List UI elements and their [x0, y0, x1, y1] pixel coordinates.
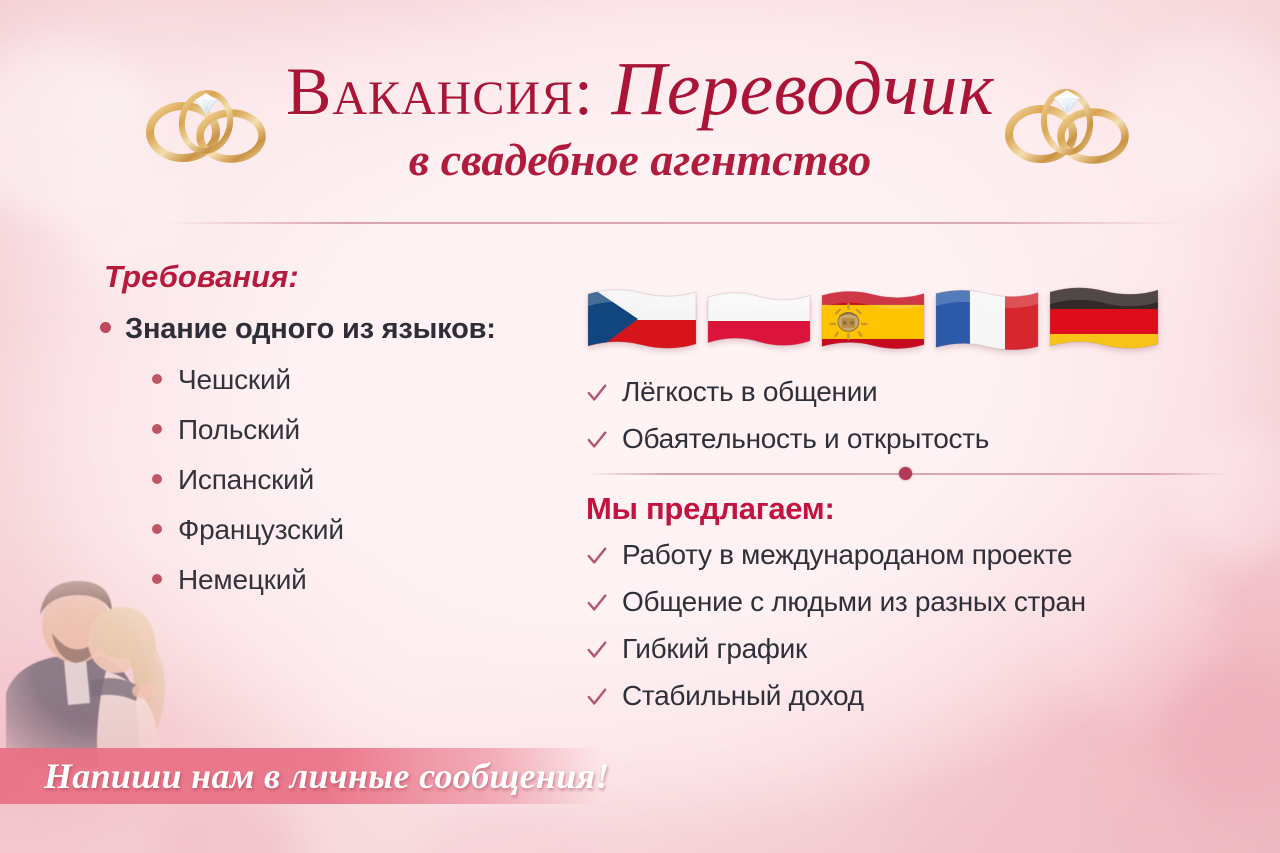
list-item: Гибкий график	[586, 631, 1226, 667]
offer-label: Стабильный доход	[622, 678, 864, 714]
language-label: Французский	[178, 512, 344, 548]
check-icon	[586, 429, 608, 451]
flag-row	[586, 284, 1226, 358]
poster-root: Вакансия: Переводчик	[0, 0, 1280, 853]
poster-header: Вакансия: Переводчик	[0, 44, 1280, 188]
offer-label: Гибкий график	[622, 631, 807, 667]
bullet-dot-icon	[152, 574, 162, 584]
language-label: Чешский	[178, 362, 291, 398]
list-item: Польский	[152, 412, 570, 448]
title-script: Переводчик	[611, 47, 994, 131]
offer-label: Работу в международаном проекте	[622, 537, 1072, 573]
check-icon	[586, 592, 608, 614]
wedding-rings-icon	[1005, 80, 1131, 164]
list-item: Общение с людьми из разных стран	[586, 584, 1226, 620]
cta-banner-label: Напиши нам в личные сообщения!	[44, 754, 610, 798]
language-list: Чешский Польский Испанский Французский Н…	[100, 362, 570, 598]
section-divider	[586, 473, 1226, 475]
spain-flag	[820, 284, 926, 358]
list-item: Французский	[152, 512, 570, 548]
title-row: Вакансия: Переводчик	[0, 44, 1280, 136]
list-item: Чешский	[152, 362, 570, 398]
divider-dot-icon	[899, 467, 912, 480]
bullet-dot-icon	[152, 424, 162, 434]
header-divider	[165, 222, 1180, 224]
languages-lead: Знание одного из языков:	[100, 310, 570, 348]
list-item: Обаятельность и открытость	[586, 421, 1226, 457]
soft-skill-label: Обаятельность и открытость	[622, 421, 989, 457]
list-item: Лёгкость в общении	[586, 374, 1226, 410]
bullet-dot-icon	[152, 524, 162, 534]
check-icon	[586, 382, 608, 404]
title-lead: Вакансия:	[286, 53, 594, 129]
france-flag	[934, 284, 1040, 358]
languages-lead-label: Знание одного из языков:	[125, 310, 496, 348]
language-label: Немецкий	[178, 562, 307, 598]
cta-banner[interactable]: Напиши нам в личные сообщения!	[0, 748, 600, 804]
poland-flag	[706, 284, 812, 358]
czech-flag	[586, 284, 698, 358]
list-item: Немецкий	[152, 562, 570, 598]
offer-column: Лёгкость в общении Обаятельность и откры…	[586, 284, 1226, 725]
list-item: Стабильный доход	[586, 678, 1226, 714]
offer-label: Общение с людьми из разных стран	[622, 584, 1086, 620]
poster-title: Вакансия: Переводчик	[286, 44, 994, 136]
requirements-column: Требования: Знание одного из языков: Чеш…	[100, 258, 570, 612]
check-icon	[586, 545, 608, 567]
bullet-dot-icon	[152, 374, 162, 384]
bullet-dot-icon	[100, 322, 111, 333]
language-label: Испанский	[178, 462, 314, 498]
requirements-heading: Требования:	[104, 258, 570, 296]
bullet-dot-icon	[152, 474, 162, 484]
germany-flag	[1048, 284, 1160, 358]
language-label: Польский	[178, 412, 300, 448]
wedding-rings-icon	[145, 80, 271, 164]
offer-list: Работу в международаном проекте Общение …	[586, 537, 1226, 714]
check-icon	[586, 639, 608, 661]
soft-skills-list: Лёгкость в общении Обаятельность и откры…	[586, 374, 1226, 457]
list-item: Испанский	[152, 462, 570, 498]
list-item: Работу в международаном проекте	[586, 537, 1226, 573]
soft-skill-label: Лёгкость в общении	[622, 374, 877, 410]
check-icon	[586, 686, 608, 708]
offer-heading: Мы предлагаем:	[586, 489, 1226, 529]
